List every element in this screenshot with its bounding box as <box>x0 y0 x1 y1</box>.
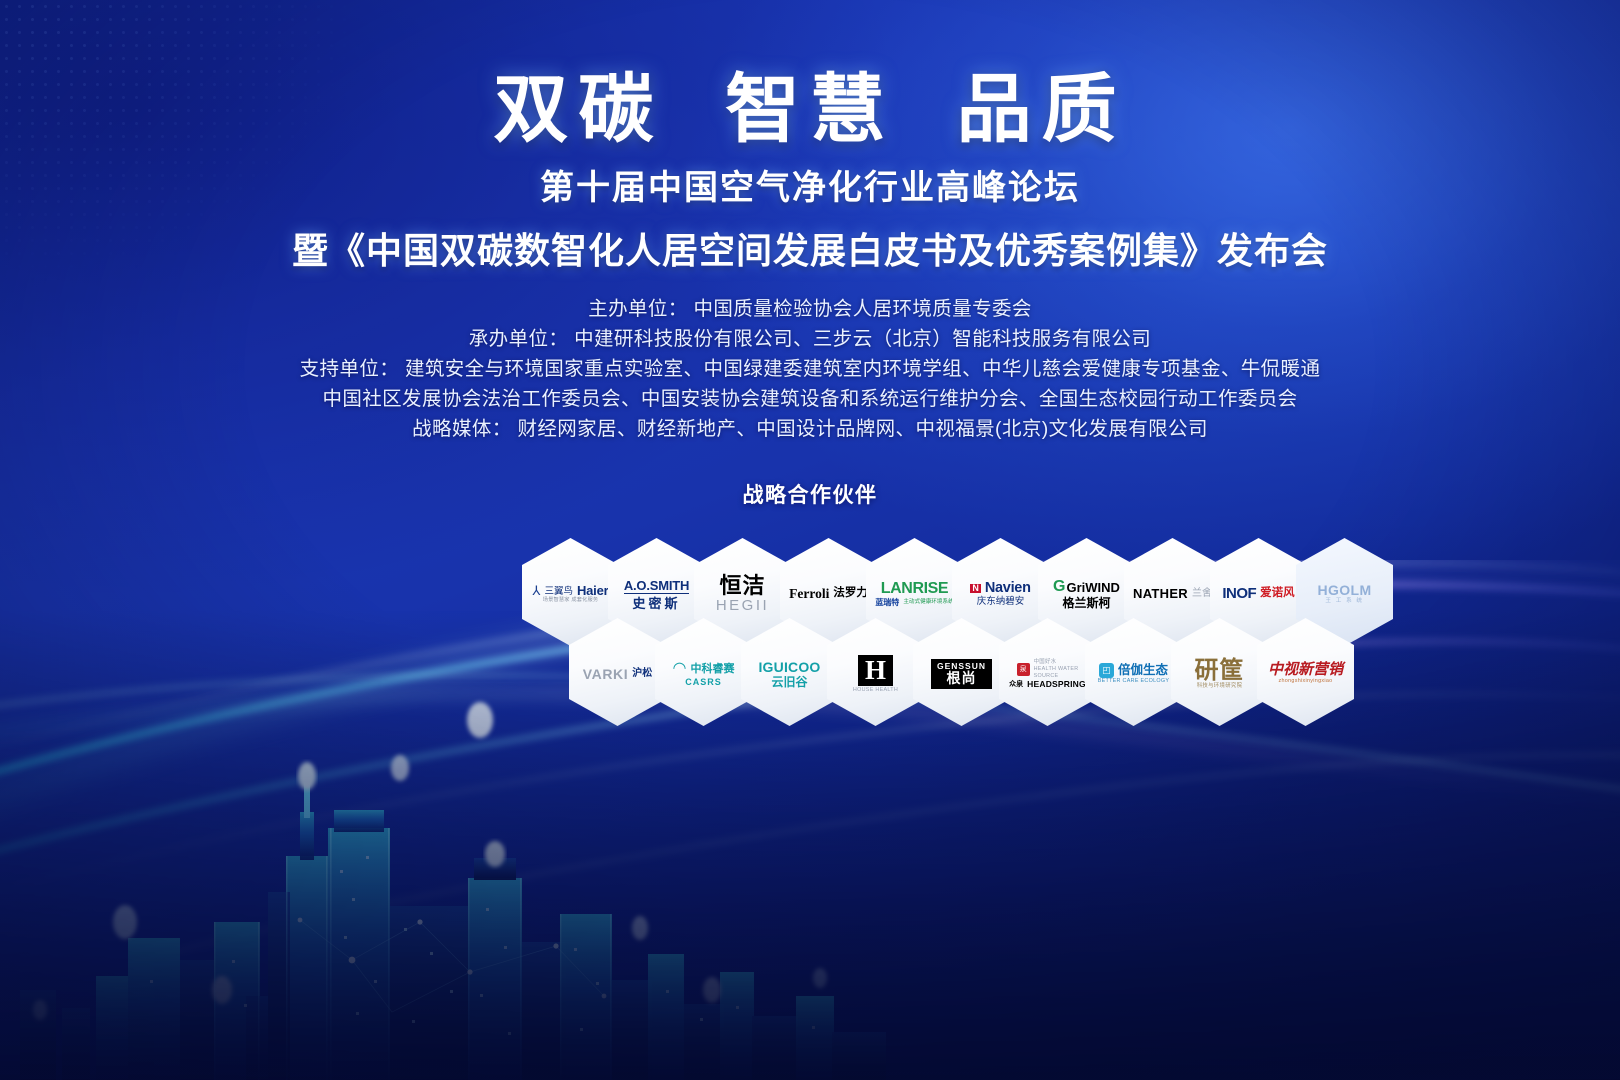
iguicoo-logo: IGUICOO 云旧谷 <box>747 660 833 688</box>
ferroli-cn: 法罗力 <box>833 588 868 600</box>
navien-en: Navien <box>985 581 1031 596</box>
zhongshi-sub: zhongshixinyingxiao <box>1263 679 1349 685</box>
h-brand-sub: HOUSE HEALTH <box>833 688 919 694</box>
varki-logo: VARKI 沪松 <box>575 667 661 681</box>
headspring-cn: 众泉 <box>1009 681 1023 688</box>
ao-smith-cn: 史密斯 <box>614 597 700 610</box>
hegii-logo: 恒洁 HEGII <box>700 575 786 614</box>
lanrise-sub: 主动式健康环境系统 <box>903 600 953 606</box>
ao-smith-logo: A.O.SMITH 史密斯 <box>614 578 700 610</box>
griwind-cn: 格兰斯柯 <box>1044 597 1130 609</box>
hegii-en: HEGII <box>700 598 786 613</box>
iguicoo-en: IGUICOO <box>747 660 833 674</box>
varki-en: VARKI <box>583 667 629 681</box>
poster-content: 双碳 智慧 品质 第十届中国空气净化行业高峰论坛 暨《中国双碳数智化人居空间发展… <box>0 0 1620 1080</box>
beijia-sub: BETTER CARE ECOLOGY <box>1091 679 1177 685</box>
inof-cn: 爱诺风 <box>1260 588 1295 600</box>
casrs-cn: 中科睿赛 <box>690 664 734 675</box>
yanhuang-logo: 研筐 科技与环境研究院 <box>1177 659 1263 690</box>
h-brand-logo: H HOUSE HEALTH <box>833 655 919 694</box>
hegii-cn: 恒洁 <box>700 575 786 597</box>
lanrise-logo: LANRISE 蓝瑞特 主动式健康环境系统 <box>872 581 958 606</box>
inof-en: INOF <box>1222 586 1256 601</box>
ferroli-en: Ferroli <box>789 587 829 601</box>
lanrise-cn: 蓝瑞特 <box>875 599 899 607</box>
nather-logo: NATHER 兰舍 <box>1130 587 1216 600</box>
zhongshi-cn: 中视新营销 <box>1263 663 1349 678</box>
nather-cn: 兰舍 <box>1192 589 1212 599</box>
zhongshi-logo: 中视新营销 zhongshixinyingxiao <box>1263 663 1349 685</box>
beijia-cn: 倍伽生态 <box>1118 664 1168 677</box>
headspring-en: HEADSPRING <box>1027 680 1086 689</box>
yanhuang-cn: 研筐 <box>1177 659 1263 683</box>
hgolm-en: HGOLM <box>1302 583 1388 597</box>
haier-sub: 场景智慧家 成套化服务 <box>528 598 614 603</box>
navien-logo: N Navien 庆东纳碧安 <box>958 581 1044 606</box>
beijia-logo: ◰ 倍伽生态 BETTER CARE ECOLOGY <box>1091 663 1177 685</box>
genssun-badge: GENSSUN 根尚 <box>931 659 992 689</box>
haier-cn: 三翼鸟 <box>544 587 573 597</box>
ao-smith-en: A.O.SMITH <box>624 579 689 594</box>
genssun-logo: GENSSUN 根尚 <box>919 659 1005 689</box>
haier-en: Haier <box>577 584 609 597</box>
casrs-en: CASRS <box>661 678 747 687</box>
lanrise-en: LANRISE <box>872 581 958 597</box>
haier-logo: ⅄ 三翼鸟 Haier 场景智慧家 成套化服务 <box>528 584 614 604</box>
nather-en: NATHER <box>1133 587 1188 600</box>
partner-logo-grid: ⅄ 三翼鸟 Haier 场景智慧家 成套化服务 A.O.SMITH 史密斯 恒洁… <box>0 0 1620 1080</box>
hgolm-cn: 王 工 系 统 <box>1302 599 1388 605</box>
casrs-logo: ◠ 中科睿赛 CASRS <box>661 661 747 686</box>
h-brand-mark: H <box>858 655 893 686</box>
inof-logo: INOF 爱诺风 <box>1216 586 1302 601</box>
yanhuang-sub: 科技与环境研究院 <box>1177 684 1263 690</box>
navien-cn: 庆东纳碧安 <box>958 597 1044 607</box>
griwind-logo: G GriWIND 格兰斯柯 <box>1044 579 1130 609</box>
griwind-en: GriWIND <box>1067 581 1120 594</box>
varki-cn: 沪松 <box>632 669 652 679</box>
headspring-logo: 泉 中国好水HEALTH WATERSOURCE 众泉 HEADSPRING <box>1005 659 1091 689</box>
iguicoo-cn: 云旧谷 <box>747 676 833 688</box>
ferroli-logo: Ferroli 法罗力 <box>786 587 872 601</box>
hgolm-logo: HGOLM 王 工 系 统 <box>1302 583 1388 605</box>
poster-background: 双碳 智慧 品质 第十届中国空气净化行业高峰论坛 暨《中国双碳数智化人居空间发展… <box>0 0 1620 1080</box>
genssun-cn: 根尚 <box>937 671 986 685</box>
